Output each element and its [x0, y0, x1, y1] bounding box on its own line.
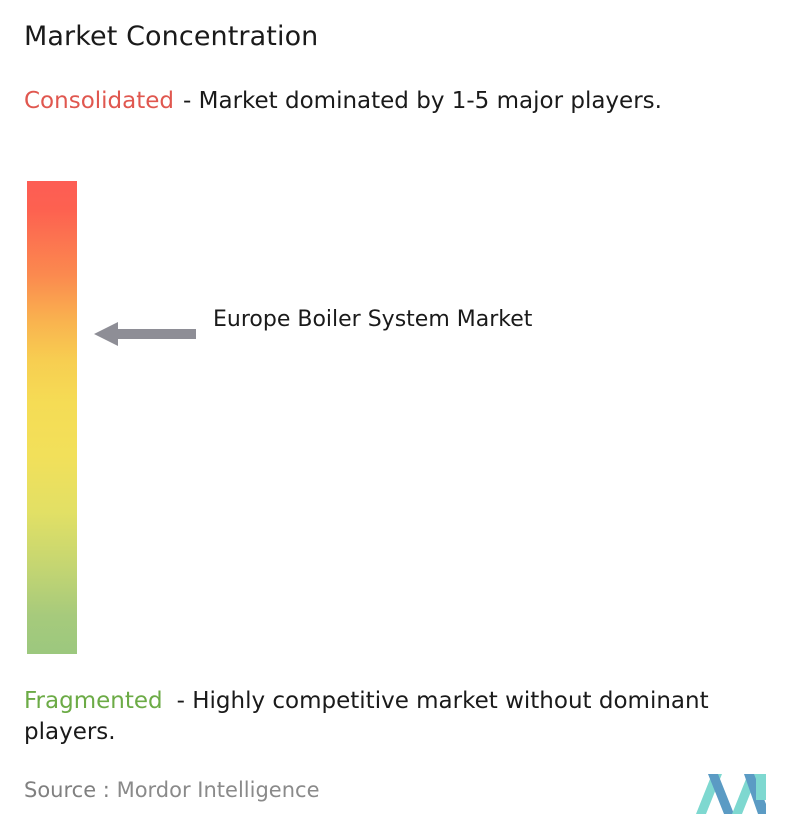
- legend-fragmented: Fragmented- Highly competitive market wi…: [24, 686, 786, 748]
- legend-description-consolidated: - Market dominated by 1-5 major players.: [183, 88, 662, 114]
- source-value: Mordor Intelligence: [117, 778, 320, 802]
- market-pointer-label: Europe Boiler System Market: [213, 303, 563, 337]
- concentration-gradient-bar: [27, 181, 77, 654]
- legend-term-fragmented: Fragmented: [24, 688, 163, 714]
- left-arrow-icon: [94, 320, 196, 348]
- legend-consolidated: Consolidated- Market dominated by 1-5 ma…: [24, 86, 768, 117]
- source-line: Source : Mordor Intelligence: [24, 776, 319, 804]
- legend-term-consolidated: Consolidated: [24, 88, 174, 114]
- market-concentration-chart: Market Concentration Consolidated- Marke…: [0, 0, 796, 834]
- source-label: Source :: [24, 778, 110, 802]
- mordor-intelligence-logo: [694, 770, 770, 820]
- page-title: Market Concentration: [24, 20, 318, 54]
